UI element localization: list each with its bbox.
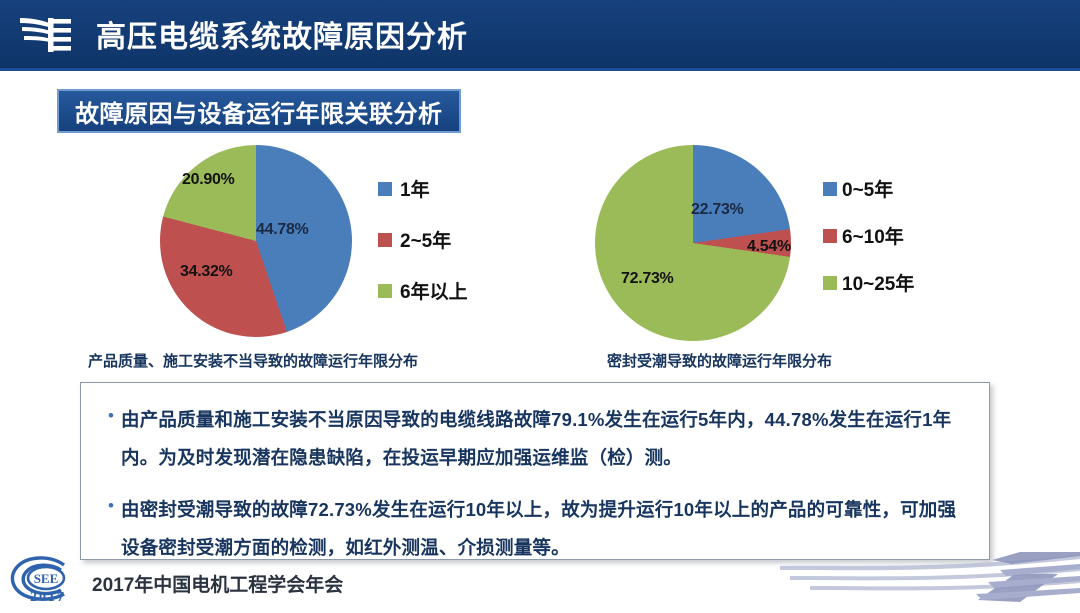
legend-swatch-blue-icon: [823, 182, 837, 196]
pie-chart-2-graphic: 22.73% 4.54% 72.73%: [595, 145, 791, 341]
legend-item-label: 0~5年: [842, 175, 893, 202]
see-conference-logo-icon: SEE 2017: [6, 556, 84, 606]
page-header: 高压电缆系统故障原因分析: [0, 0, 1080, 68]
see-logo-year: 2017: [30, 590, 66, 605]
legend-item-label: 6年以上: [400, 277, 468, 304]
header-divider: [0, 68, 1080, 71]
bullet-dot-icon: •: [101, 491, 121, 521]
pie-2-slice-label-blue: 22.73%: [691, 201, 743, 219]
legend-swatch-red-icon: [823, 229, 837, 243]
legend-item: 6~10年: [823, 222, 914, 249]
see-logo-text: SEE: [34, 571, 59, 586]
bullet-item: • 由产品质量和施工安装不当原因导致的电缆线路故障79.1%发生在运行5年内，4…: [101, 401, 967, 477]
pie-chart-1-graphic: 44.78% 34.32% 20.90%: [160, 145, 352, 337]
legend-swatch-blue-icon: [378, 182, 392, 196]
legend-item: 10~25年: [823, 269, 914, 296]
legend-item: 1年: [378, 175, 468, 202]
pie-1-slice-label-blue: 44.78%: [256, 221, 308, 239]
summary-textbox: • 由产品质量和施工安装不当原因导致的电缆线路故障79.1%发生在运行5年内，4…: [80, 382, 990, 560]
bullet-text: 由密封受潮导致的故障72.73%发生在运行10年以上，故为提升运行10年以上的产…: [121, 491, 967, 567]
pie-2-slice-label-red: 4.54%: [747, 238, 791, 256]
legend-swatch-green-icon: [378, 284, 392, 298]
legend-swatch-red-icon: [378, 233, 392, 247]
section-subtitle-text: 故障原因与设备运行年限关联分析: [75, 94, 443, 129]
legend-item-label: 1年: [400, 175, 430, 202]
legend-item-label: 6~10年: [842, 222, 904, 249]
pie-chart-2-legend: 0~5年 6~10年 10~25年: [823, 175, 914, 316]
legend-item-label: 10~25年: [842, 269, 914, 296]
legend-item: 0~5年: [823, 175, 914, 202]
bullet-item: • 由密封受潮导致的故障72.73%发生在运行10年以上，故为提升运行10年以上…: [101, 491, 967, 567]
page-title: 高压电缆系统故障原因分析: [96, 12, 468, 56]
converging-lines-logo-icon: [18, 12, 74, 56]
pie-1-slice-label-green: 20.90%: [182, 171, 234, 189]
legend-item-label: 2~5年: [400, 226, 451, 253]
section-subtitle-box: 故障原因与设备运行年限关联分析: [57, 89, 461, 133]
footer-conference-name: 2017年中国电机工程学会年会: [92, 570, 343, 597]
pie-1-slice-label-red: 34.32%: [180, 263, 232, 281]
bullet-text: 由产品质量和施工安装不当原因导致的电缆线路故障79.1%发生在运行5年内，44.…: [121, 401, 967, 477]
pie-chart-1: 44.78% 34.32% 20.90% 1年 2~5年 6年以上: [160, 145, 352, 337]
bullet-dot-icon: •: [101, 401, 121, 431]
pie-chart-1-legend: 1年 2~5年 6年以上: [378, 175, 468, 328]
pie-chart-1-caption: 产品质量、施工安装不当导致的故障运行年限分布: [88, 350, 418, 371]
pie-chart-2: 22.73% 4.54% 72.73% 0~5年 6~10年 10~25年: [595, 145, 791, 341]
pie-chart-2-caption: 密封受潮导致的故障运行年限分布: [607, 350, 832, 371]
legend-swatch-green-icon: [823, 276, 837, 290]
charts-region: 44.78% 34.32% 20.90% 1年 2~5年 6年以上 22.73%…: [0, 145, 1080, 345]
pie-2-slice-label-green: 72.73%: [621, 270, 673, 288]
legend-item: 2~5年: [378, 226, 468, 253]
legend-item: 6年以上: [378, 277, 468, 304]
